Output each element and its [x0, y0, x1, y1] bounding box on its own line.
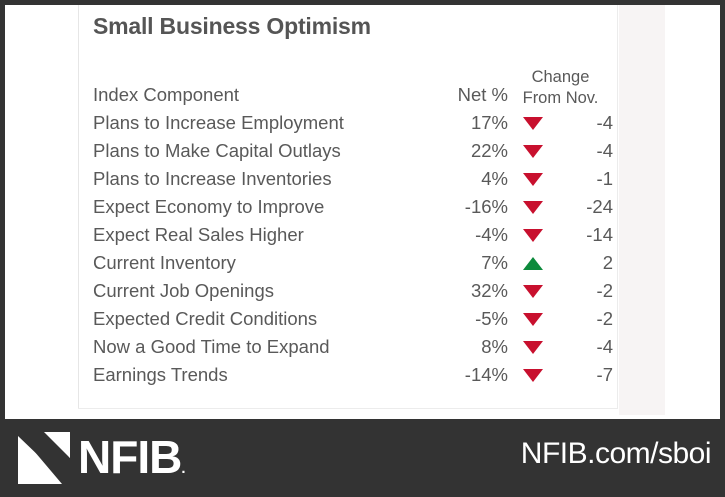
header-change-line2: From Nov. — [508, 88, 613, 109]
arrow-down-icon — [523, 341, 543, 354]
table-row: Expected Credit Conditions-5%-2 — [93, 305, 613, 333]
nfib-logo: NFIB. — [18, 428, 214, 486]
table-bottom-rule — [78, 408, 618, 409]
row-component-label: Current Inventory — [93, 249, 423, 277]
table-left-rule — [78, 5, 79, 409]
row-change-value: -4 — [558, 137, 613, 165]
row-net-percent: -4% — [423, 221, 508, 249]
row-trend-down — [508, 221, 558, 249]
header-change-from-nov: Change From Nov. — [508, 67, 613, 109]
row-change-value: -2 — [558, 305, 613, 333]
row-change-value: -1 — [558, 165, 613, 193]
nfib-logo-mark-icon — [18, 432, 70, 484]
table-header-row: Index Component Net % Change From Nov. — [93, 67, 613, 109]
row-trend-down — [508, 333, 558, 361]
row-net-percent: -16% — [423, 193, 508, 221]
sboi-table: Index Component Net % Change From Nov. P… — [93, 67, 613, 389]
page-title: Small Business Optimism — [93, 13, 371, 40]
arrow-down-icon — [523, 117, 543, 130]
arrow-up-icon — [523, 257, 543, 270]
row-trend-down — [508, 361, 558, 389]
row-net-percent: 7% — [423, 249, 508, 277]
row-component-label: Plans to Increase Inventories — [93, 165, 423, 193]
highlight-column-band — [619, 5, 665, 415]
row-net-percent: 17% — [423, 109, 508, 137]
row-component-label: Plans to Increase Employment — [93, 109, 423, 137]
row-trend-down — [508, 165, 558, 193]
arrow-down-icon — [523, 173, 543, 186]
row-change-value: 2 — [558, 249, 613, 277]
arrow-down-icon — [523, 229, 543, 242]
row-trend-down — [508, 137, 558, 165]
row-net-percent: -5% — [423, 305, 508, 333]
table-row: Now a Good Time to Expand8%-4 — [93, 333, 613, 361]
table-row: Plans to Increase Employment17%-4 — [93, 109, 613, 137]
arrow-down-icon — [523, 313, 543, 326]
table-body: Plans to Increase Employment17%-4Plans t… — [93, 109, 613, 389]
header-change-line1: Change — [508, 67, 613, 88]
row-component-label: Now a Good Time to Expand — [93, 333, 423, 361]
row-component-label: Expect Economy to Improve — [93, 193, 423, 221]
row-change-value: -4 — [558, 109, 613, 137]
row-change-value: -7 — [558, 361, 613, 389]
row-component-label: Expected Credit Conditions — [93, 305, 423, 333]
table-row: Expect Economy to Improve-16%-24 — [93, 193, 613, 221]
row-trend-down — [508, 277, 558, 305]
row-net-percent: 32% — [423, 277, 508, 305]
table-row: Plans to Make Capital Outlays22%-4 — [93, 137, 613, 165]
nfib-wordmark: NFIB. — [78, 430, 185, 496]
table-header: Index Component Net % Change From Nov. — [93, 67, 613, 109]
row-component-label: Expect Real Sales Higher — [93, 221, 423, 249]
arrow-down-icon — [523, 285, 543, 298]
table-row: Current Inventory7%2 — [93, 249, 613, 277]
table-right-rule — [617, 5, 618, 409]
row-net-percent: 4% — [423, 165, 508, 193]
content-card: Small Business Optimism Index Component … — [5, 5, 720, 419]
row-component-label: Earnings Trends — [93, 361, 423, 389]
arrow-down-icon — [523, 201, 543, 214]
row-trend-up — [508, 249, 558, 277]
row-change-value: -4 — [558, 333, 613, 361]
row-component-label: Current Job Openings — [93, 277, 423, 305]
row-trend-down — [508, 305, 558, 333]
table-row: Current Job Openings32%-2 — [93, 277, 613, 305]
row-component-label: Plans to Make Capital Outlays — [93, 137, 423, 165]
row-change-value: -14 — [558, 221, 613, 249]
row-trend-down — [508, 193, 558, 221]
footer-url[interactable]: NFIB.com/sboi — [521, 437, 711, 471]
nfib-registered-mark: . — [181, 460, 184, 477]
nfib-wordmark-text: NFIB — [78, 431, 181, 483]
row-net-percent: 22% — [423, 137, 508, 165]
row-trend-down — [508, 109, 558, 137]
infographic-root: Small Business Optimism Index Component … — [0, 0, 725, 497]
header-net-percent: Net % — [423, 67, 508, 109]
arrow-down-icon — [523, 145, 543, 158]
table-row: Expect Real Sales Higher-4%-14 — [93, 221, 613, 249]
row-change-value: -2 — [558, 277, 613, 305]
row-net-percent: 8% — [423, 333, 508, 361]
table-row: Earnings Trends-14%-7 — [93, 361, 613, 389]
row-change-value: -24 — [558, 193, 613, 221]
footer-bar: NFIB. NFIB.com/sboi — [0, 419, 725, 497]
table-row: Plans to Increase Inventories4%-1 — [93, 165, 613, 193]
row-net-percent: -14% — [423, 361, 508, 389]
header-index-component: Index Component — [93, 67, 423, 109]
arrow-down-icon — [523, 369, 543, 382]
